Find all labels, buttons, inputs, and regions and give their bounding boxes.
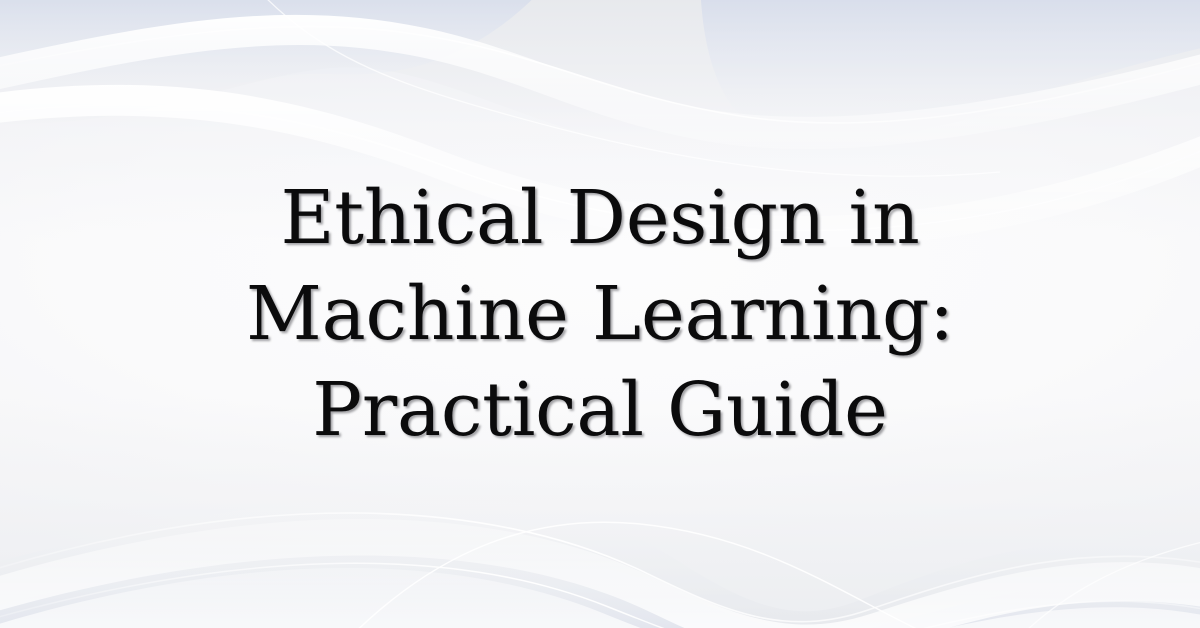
banner-canvas: Ethical Design in Machine Learning: Prac… (0, 0, 1200, 628)
page-title: Ethical Design in Machine Learning: Prac… (170, 170, 1030, 458)
title-container: Ethical Design in Machine Learning: Prac… (0, 0, 1200, 628)
